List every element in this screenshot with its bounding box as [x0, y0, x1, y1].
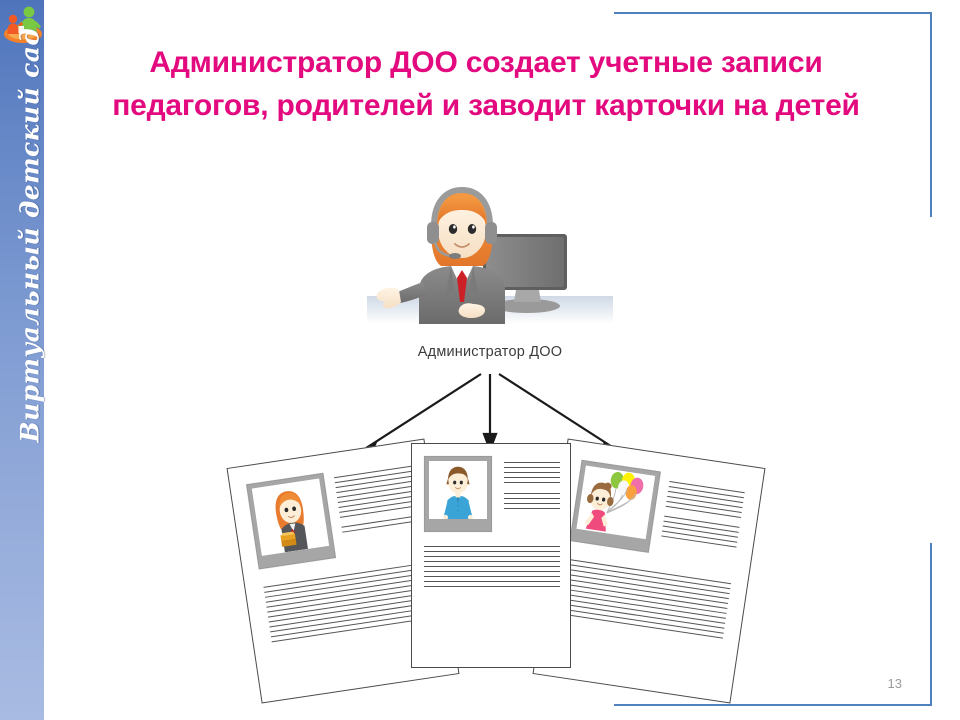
teacher-woman-photo — [252, 479, 329, 556]
admin-caption-label: Администратор ДОО — [355, 344, 625, 360]
slide-title: Администратор ДОО создает учетные записи… — [56, 42, 916, 127]
teacher-card-text-lines-top — [334, 466, 420, 537]
slide-title-line-2: педагогов, родителей и заводит карточки … — [56, 85, 916, 128]
child-record-card[interactable] — [411, 443, 571, 668]
page-number: 13 — [888, 676, 902, 691]
frame-line-bottom — [614, 704, 932, 706]
parent-card-text-lines-top — [661, 481, 745, 552]
slide-title-line-1: Администратор ДОО создает учетные записи — [56, 42, 916, 85]
call-center-operator-icon — [355, 178, 625, 338]
girl-with-balloons-photo — [576, 466, 655, 540]
arrow-to-child-card — [484, 374, 496, 450]
presentation-slide: Виртуальный детский сад Администратор ДО… — [0, 0, 960, 720]
child-card-text-lines-bottom — [424, 546, 560, 591]
frame-line-right-upper — [930, 12, 932, 217]
frame-line-right-lower — [930, 543, 932, 706]
boy-in-blue-shirt-photo — [429, 461, 487, 519]
sidebar-band: Виртуальный детский сад — [0, 0, 44, 720]
child-card-text-lines-top — [504, 462, 560, 513]
parent-card-text-lines-bottom — [560, 559, 731, 643]
teacher-card-text-lines-bottom — [263, 563, 434, 647]
frame-line-top — [614, 12, 932, 14]
teacher-photo-frame — [246, 473, 336, 570]
sidebar-title-label: Виртуальный детский сад — [16, 63, 45, 443]
child-photo-frame — [424, 456, 492, 532]
parent-photo-frame — [570, 460, 661, 553]
